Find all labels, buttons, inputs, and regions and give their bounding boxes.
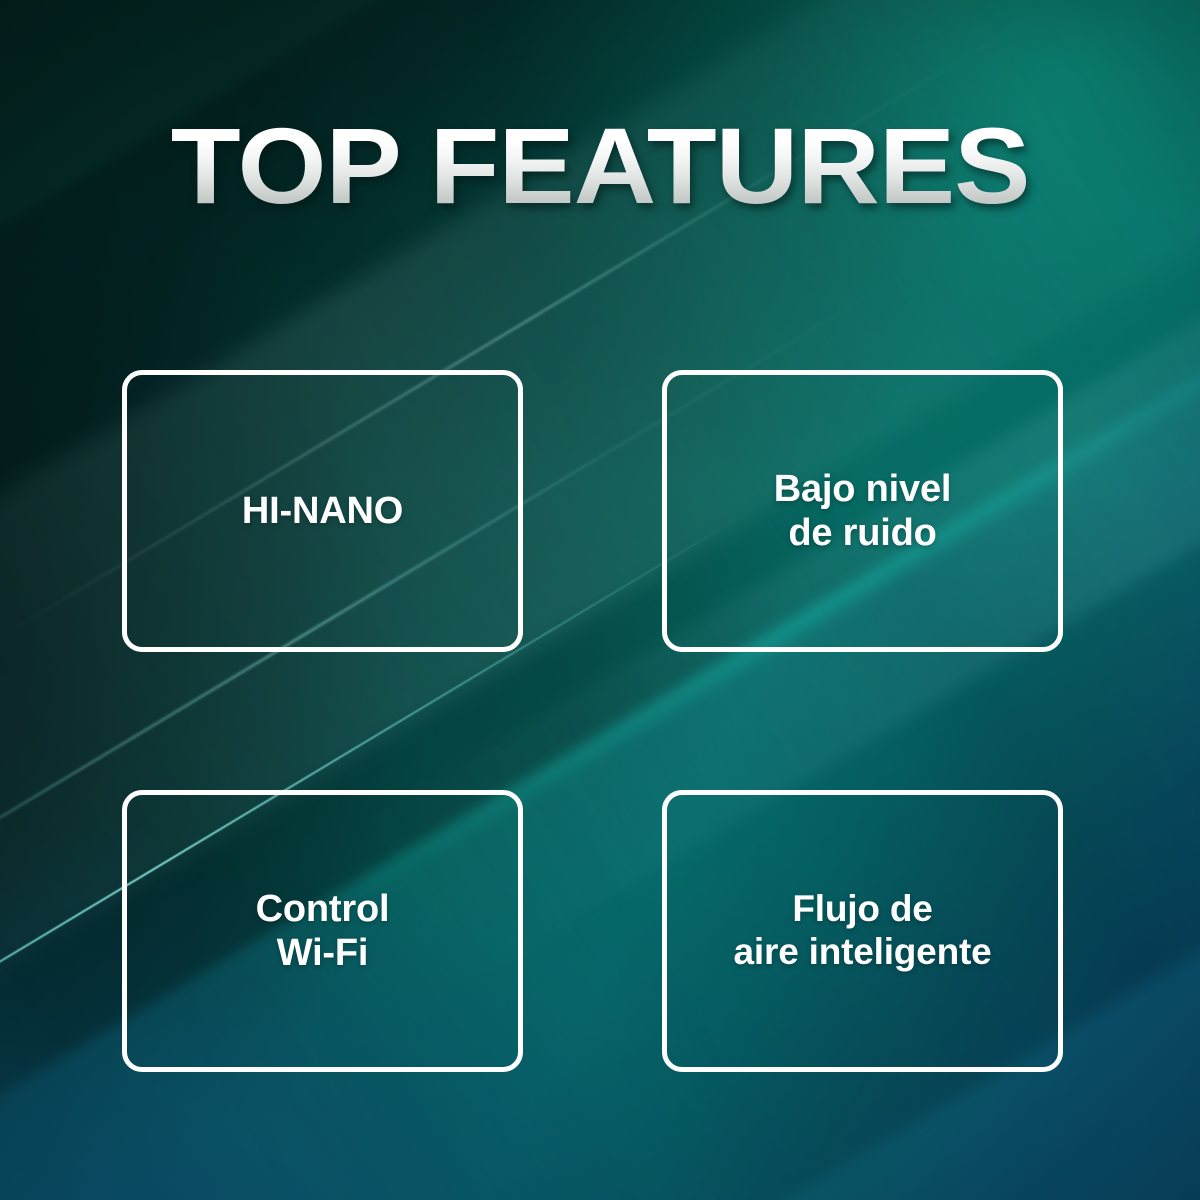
poster-content: TOP FEATURES HI-NANO Bajo nivel de ruido… <box>0 0 1200 1200</box>
feature-card-label: Bajo nivel de ruido <box>774 467 952 555</box>
feature-card-grid: HI-NANO Bajo nivel de ruido Control Wi-F… <box>122 370 1063 1072</box>
feature-card-label: Flujo de aire inteligente <box>734 888 992 974</box>
feature-card-label: HI-NANO <box>242 489 403 533</box>
feature-card-label: Control Wi-Fi <box>256 887 390 975</box>
feature-card-control-wifi[interactable]: Control Wi-Fi <box>122 790 523 1072</box>
page-title-container: TOP FEATURES <box>0 112 1200 220</box>
feature-card-hi-nano[interactable]: HI-NANO <box>122 370 523 652</box>
feature-card-flujo-aire[interactable]: Flujo de aire inteligente <box>662 790 1063 1072</box>
page-title: TOP FEATURES <box>171 112 1030 220</box>
feature-poster: TOP FEATURES HI-NANO Bajo nivel de ruido… <box>0 0 1200 1200</box>
feature-card-bajo-ruido[interactable]: Bajo nivel de ruido <box>662 370 1063 652</box>
